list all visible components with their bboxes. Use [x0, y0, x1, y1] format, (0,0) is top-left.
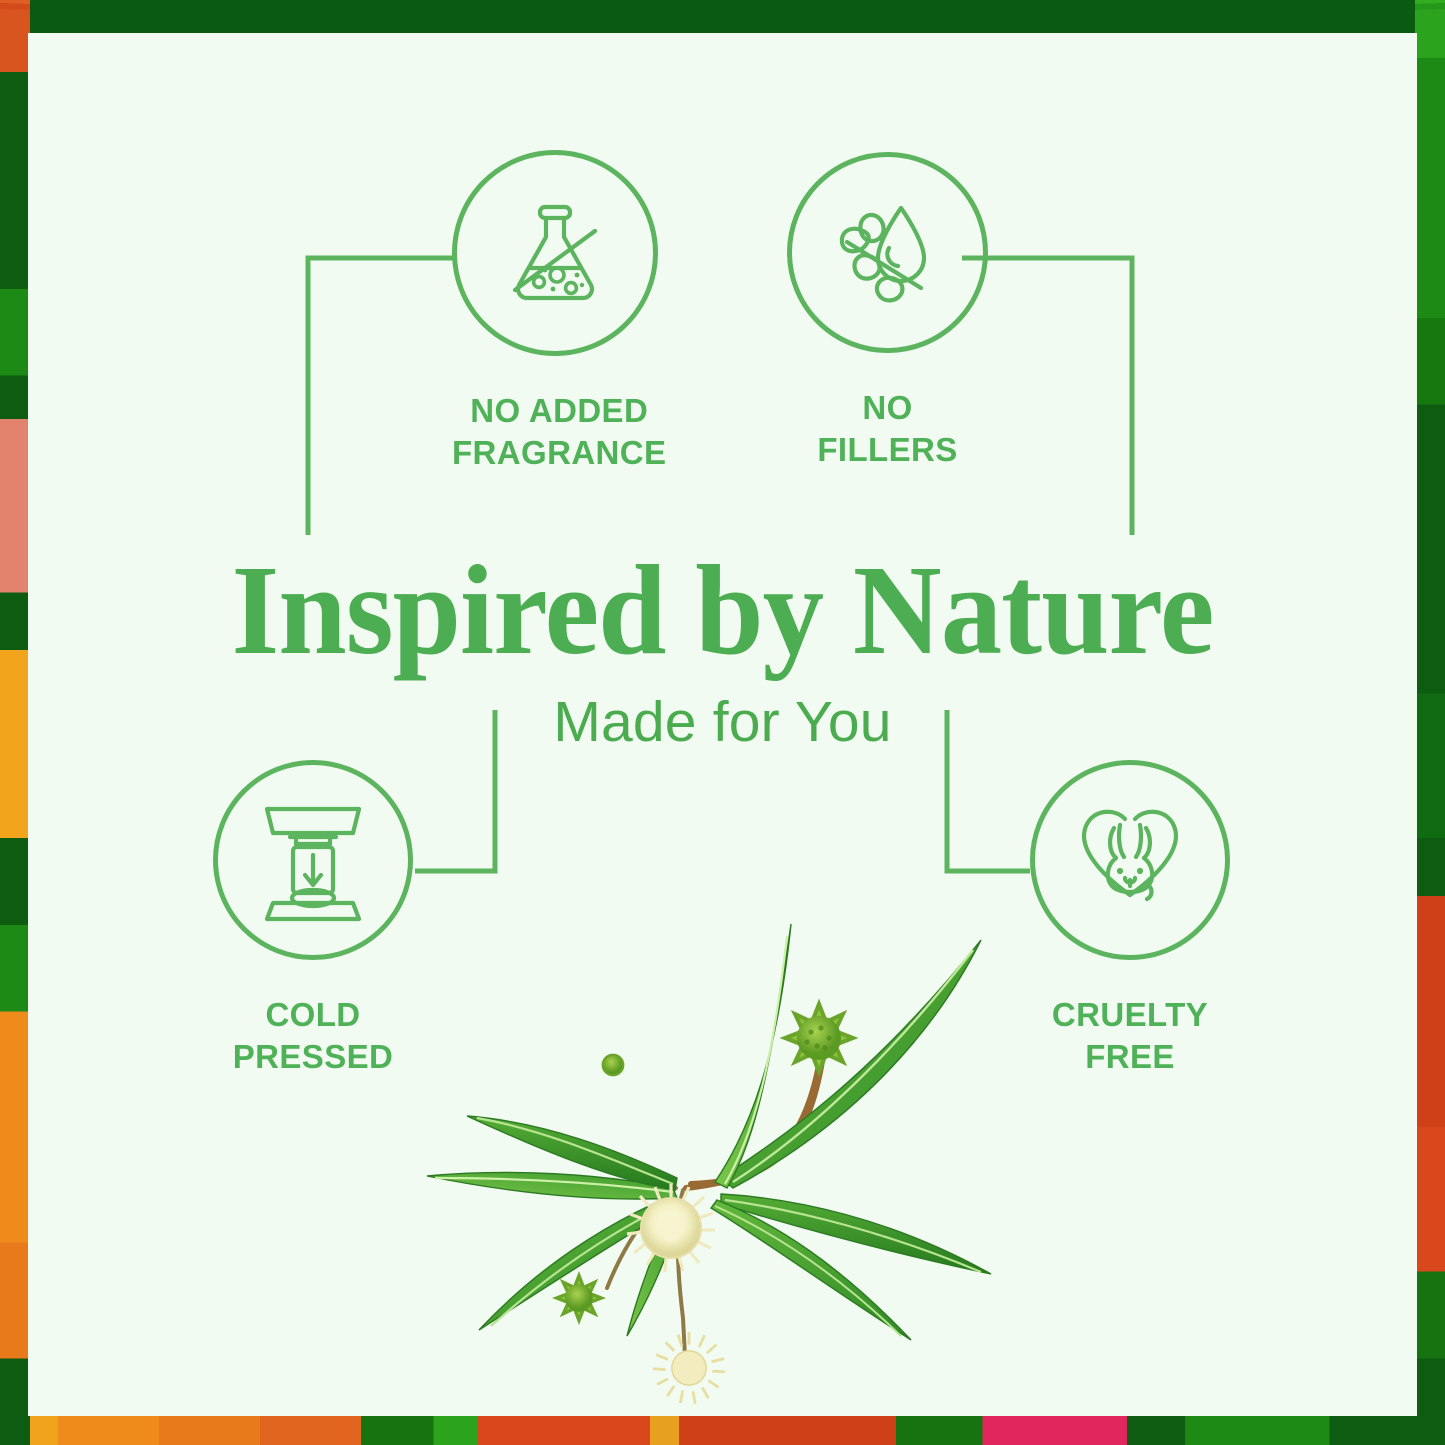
connector-cold-pressed: [415, 710, 495, 871]
badge-label: CRUELTY FREE: [1030, 994, 1230, 1078]
bhringraj-plant-photo: [421, 888, 1021, 1408]
product-infographic-poster: NO ADDED FRAGRANCE: [0, 0, 1445, 1445]
badge-no-fillers: NO FILLERS: [787, 152, 988, 471]
badge-label: NO ADDED FRAGRANCE: [452, 390, 666, 474]
flask-no-fragrance-icon: [491, 189, 619, 317]
oil-press-icon: [253, 797, 373, 923]
inner-panel: NO ADDED FRAGRANCE: [28, 33, 1417, 1416]
connector-cruelty-free: [947, 710, 1030, 871]
badge-cruelty-free: CRUELTY FREE: [1030, 760, 1230, 1078]
badge-label: COLD PRESSED: [213, 994, 413, 1078]
headline-block: Inspired by Nature Made for You: [28, 546, 1417, 751]
plant-illustration: [421, 888, 1021, 1408]
page-subtitle: Made for You: [28, 694, 1417, 751]
border-band-left: [0, 0, 30, 1445]
droplet-leaves-icon: [825, 190, 951, 316]
bunny-heart-icon: [1067, 800, 1193, 920]
badge-ring: [1030, 760, 1230, 960]
badge-cold-pressed: COLD PRESSED: [213, 760, 413, 1078]
badge-no-added-fragrance: NO ADDED FRAGRANCE: [452, 150, 666, 474]
badge-label: NO FILLERS: [787, 387, 988, 471]
page-title: Inspired by Nature: [56, 546, 1389, 674]
badge-ring: [452, 150, 658, 356]
connector-fragrance: [308, 258, 455, 535]
badge-ring: [213, 760, 413, 960]
border-band-right: [1415, 0, 1445, 1445]
badge-ring: [787, 152, 988, 353]
